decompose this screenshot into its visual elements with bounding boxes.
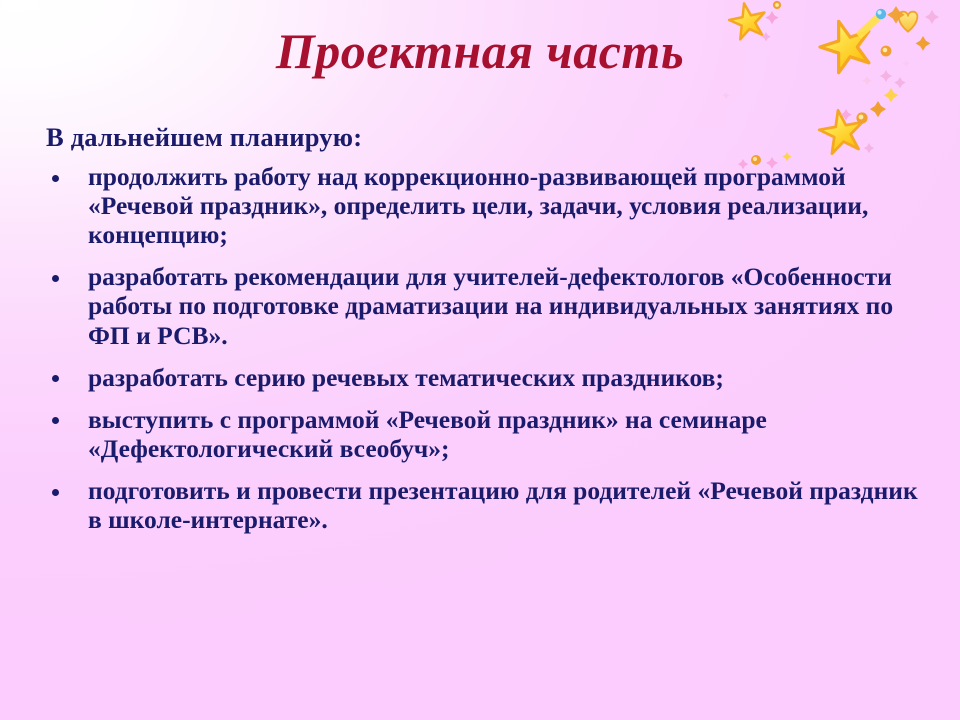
bullet-text: подготовить и провести презентацию для р… [88, 476, 924, 534]
list-item: выступить с программой «Речевой праздник… [44, 405, 924, 463]
sparkle-icon [765, 11, 778, 24]
bullet-dot-icon [52, 375, 59, 382]
list-item: разработать серию речевых тематических п… [44, 363, 924, 392]
list-item: подготовить и провести презентацию для р… [44, 476, 924, 534]
sparkle-icon [884, 88, 898, 102]
sparkle-icon [773, 1, 781, 9]
sparkle-icon [925, 10, 939, 24]
bullet-list: продолжить работу над коррекционно-разви… [44, 162, 924, 534]
sparkle-icon [723, 92, 730, 99]
sparkle-icon [775, 3, 779, 7]
sparkle-icon [887, 6, 905, 24]
slide-body: В дальнейшем планирую: продолжить работу… [44, 122, 924, 534]
bullet-dot-icon [52, 275, 59, 282]
bullet-text: разработать серию речевых тематических п… [88, 363, 924, 392]
list-item: продолжить работу над коррекционно-разви… [44, 162, 924, 249]
lead-in-text: В дальнейшем планирую: [46, 122, 924, 152]
sparkle-icon [876, 9, 886, 19]
slide-title: Проектная часть [0, 24, 960, 78]
bullet-dot-icon [52, 175, 59, 182]
bullet-dot-icon [52, 489, 59, 496]
sparkle-icon [894, 77, 905, 88]
sparkle-icon [840, 109, 851, 120]
bullet-text: выступить с программой «Речевой праздник… [88, 405, 924, 463]
presentation-slide: Проектная часть В дальнейшем планирую: п… [0, 0, 960, 720]
bullet-dot-icon [52, 417, 59, 424]
sparkle-icon [877, 10, 881, 14]
sparkle-icon [870, 101, 886, 117]
list-item: разработать рекомендации для учителей-де… [44, 262, 924, 349]
sparkle-icon [859, 115, 864, 120]
bullet-text: продолжить работу над коррекционно-разви… [88, 162, 924, 249]
bullet-text: разработать рекомендации для учителей-де… [88, 262, 924, 349]
